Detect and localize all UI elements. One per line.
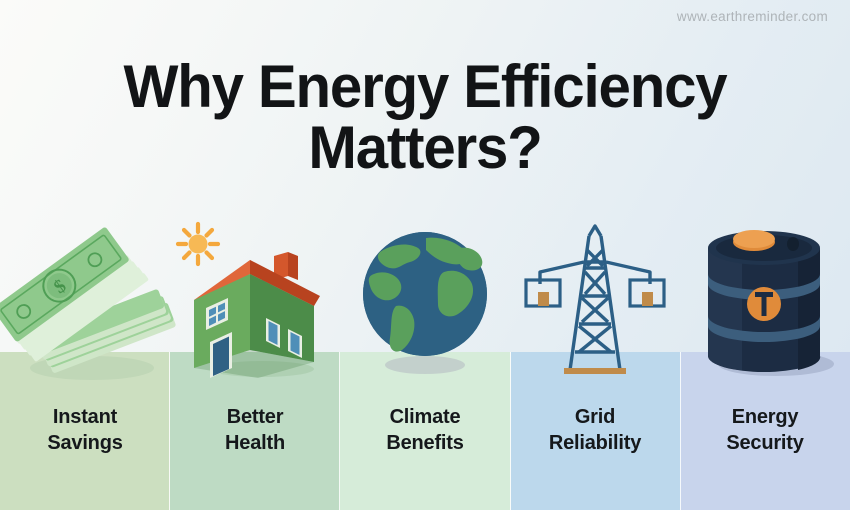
label-line-1: Climate <box>390 406 461 428</box>
label-line-1: Grid <box>575 406 615 428</box>
sun-icon <box>178 224 218 264</box>
icon-cell-energy-security <box>680 222 850 382</box>
icon-cell-climate-benefits <box>340 222 510 382</box>
label-energy-security: Energy Security <box>680 404 850 456</box>
label-better-health: Better Health <box>170 404 340 456</box>
label-climate-benefits: Climate Benefits <box>340 404 510 456</box>
house-solar-panel-icon <box>170 222 340 382</box>
insulator-box-right <box>630 280 664 306</box>
page-title: Why Energy Efficiency Matters? <box>0 56 850 178</box>
label-line-2: Health <box>170 430 340 456</box>
label-line-1: Instant <box>53 406 117 428</box>
insulator-box-left <box>526 280 560 306</box>
earth-globe-icon <box>340 222 510 382</box>
label-line-2: Reliability <box>510 430 680 456</box>
icon-cell-better-health <box>170 222 340 382</box>
label-row: Instant Savings Better Health Climate Be… <box>0 404 850 456</box>
infographic-canvas: www.earthreminder.com Why Energy Efficie… <box>0 0 850 510</box>
label-line-2: Benefits <box>340 430 510 456</box>
label-line-1: Energy <box>732 406 799 428</box>
icon-row: $ <box>0 222 850 382</box>
title-line-1: Why Energy Efficiency <box>13 56 838 117</box>
power-transmission-tower-icon <box>510 222 680 382</box>
title-line-2: Matters? <box>13 117 838 178</box>
money-stack-icon: $ <box>0 232 170 382</box>
label-line-2: Security <box>680 430 850 456</box>
watermark-url: www.earthreminder.com <box>677 9 828 24</box>
icon-cell-instant-savings: $ <box>0 222 170 382</box>
hazard-badge-icon <box>747 287 781 321</box>
label-instant-savings: Instant Savings <box>0 404 170 456</box>
icon-cell-grid-reliability <box>510 222 680 382</box>
label-grid-reliability: Grid Reliability <box>510 404 680 456</box>
label-line-2: Savings <box>0 430 170 456</box>
label-line-1: Better <box>227 406 284 428</box>
oil-barrel-icon <box>680 222 850 382</box>
